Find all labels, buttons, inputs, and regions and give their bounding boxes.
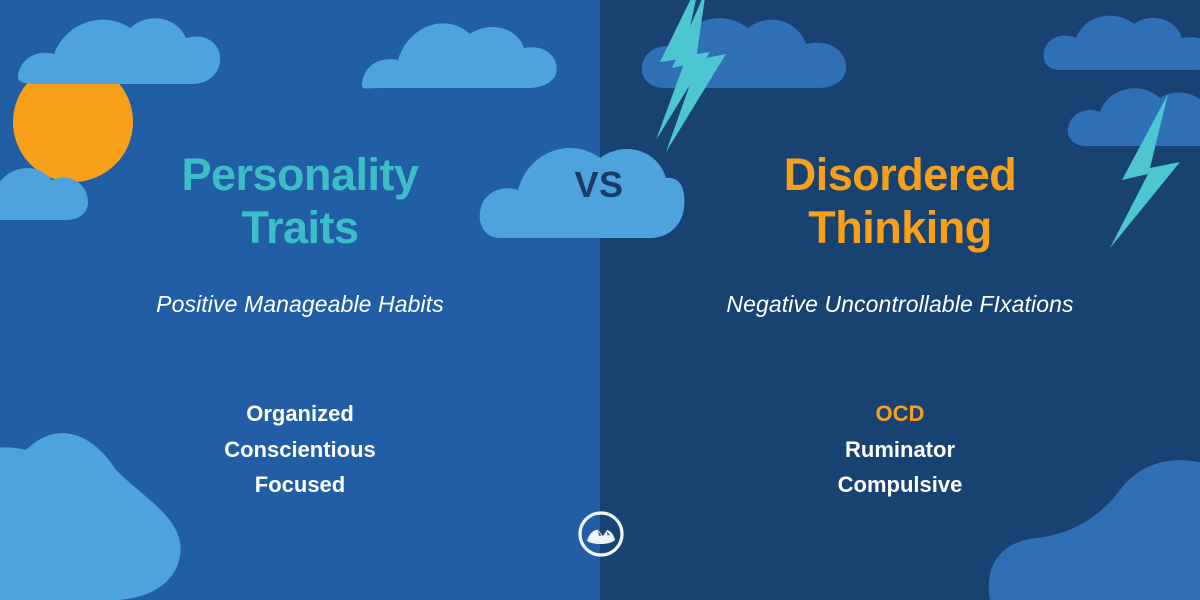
right-heading: Disordered Thinking [600, 148, 1200, 254]
list-item: Conscientious [0, 432, 600, 468]
comparison-infographic: Personality Traits Positive Manageable H… [0, 0, 1200, 600]
list-item: OCD [600, 396, 1200, 432]
vs-label: VS [478, 164, 686, 206]
left-trait-list: Organized Conscientious Focused [0, 396, 600, 503]
right-subtitle: Negative Uncontrollable FIxations [600, 291, 1200, 318]
right-trait-list: OCD Ruminator Compulsive [600, 396, 1200, 503]
list-item: Ruminator [600, 432, 1200, 468]
vs-badge: VS [478, 128, 686, 240]
list-item: Focused [0, 467, 600, 503]
mountain-logo-icon [576, 509, 626, 559]
list-item: Organized [0, 396, 600, 432]
list-item: Compulsive [600, 467, 1200, 503]
right-column: Disordered Thinking Negative Uncontrolla… [600, 0, 1200, 600]
left-column: Personality Traits Positive Manageable H… [0, 0, 600, 600]
content-layer: Personality Traits Positive Manageable H… [0, 0, 1200, 600]
left-subtitle: Positive Manageable Habits [0, 291, 600, 318]
